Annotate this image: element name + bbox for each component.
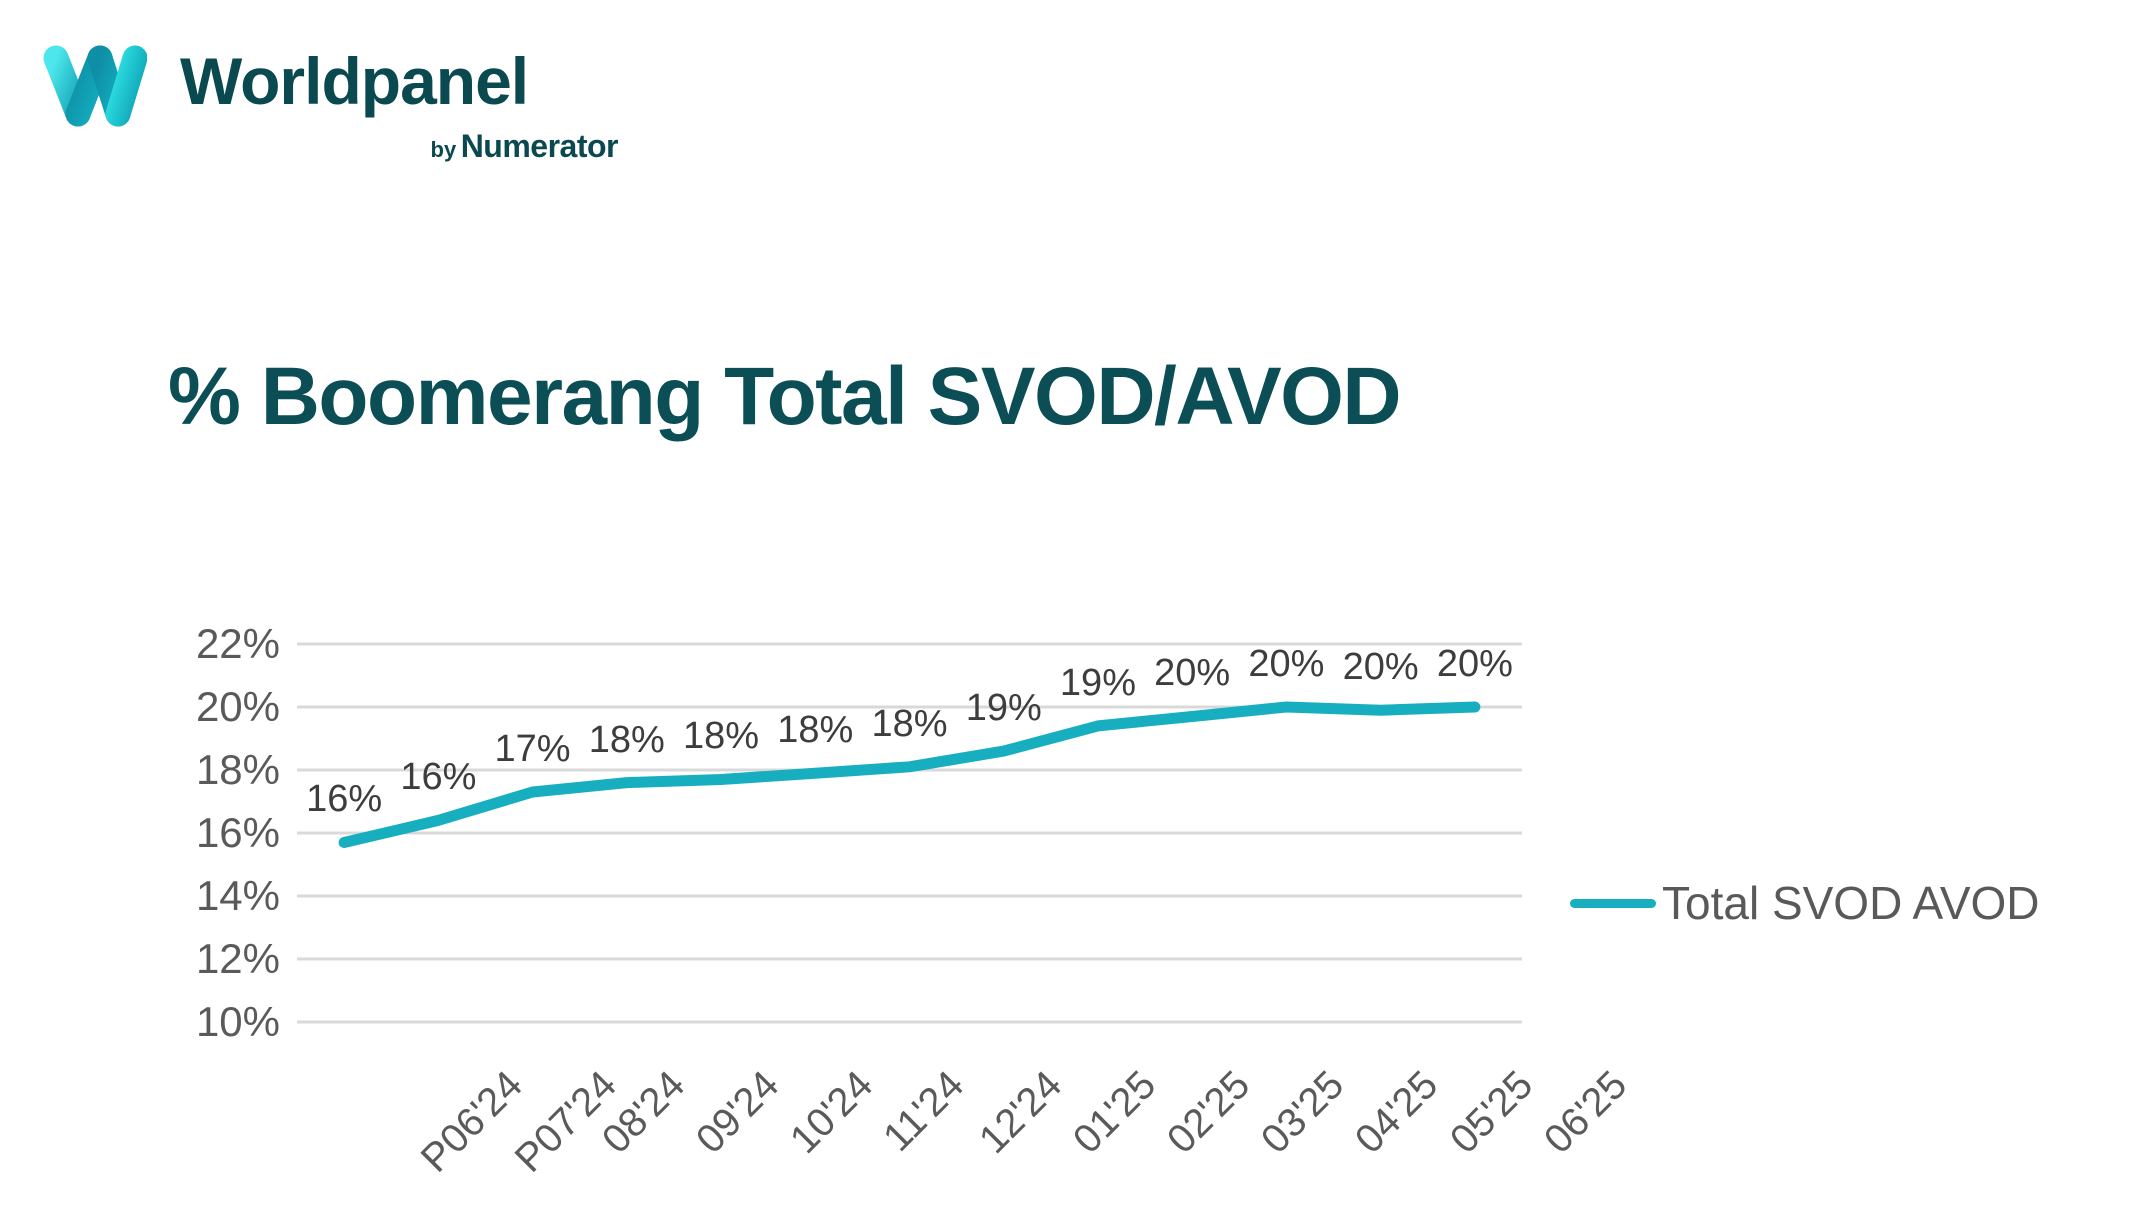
- data-label: 20%: [1437, 645, 1513, 683]
- data-label: 18%: [589, 721, 665, 759]
- data-label: 17%: [495, 730, 571, 768]
- line-chart: 22%20%18%16%14%12%10% P06'24P07'2408'240…: [0, 0, 2147, 1208]
- data-label: 16%: [306, 780, 382, 818]
- data-label: 16%: [400, 758, 476, 796]
- data-label: 20%: [1248, 645, 1324, 683]
- legend-label-total-svod-avod: Total SVOD AVOD: [1662, 880, 2040, 926]
- data-label: 18%: [871, 705, 947, 743]
- data-label: 18%: [683, 717, 759, 755]
- data-label: 19%: [966, 689, 1042, 727]
- data-label: 20%: [1343, 648, 1419, 686]
- series-data-labels: 16%16%17%18%18%18%18%19%19%20%20%20%20%: [0, 0, 2147, 1208]
- legend-swatch-total-svod-avod: [1570, 899, 1656, 908]
- data-label: 18%: [777, 711, 853, 749]
- chart-legend: Total SVOD AVOD: [1570, 880, 2040, 926]
- data-label: 20%: [1154, 654, 1230, 692]
- data-label: 19%: [1060, 664, 1136, 702]
